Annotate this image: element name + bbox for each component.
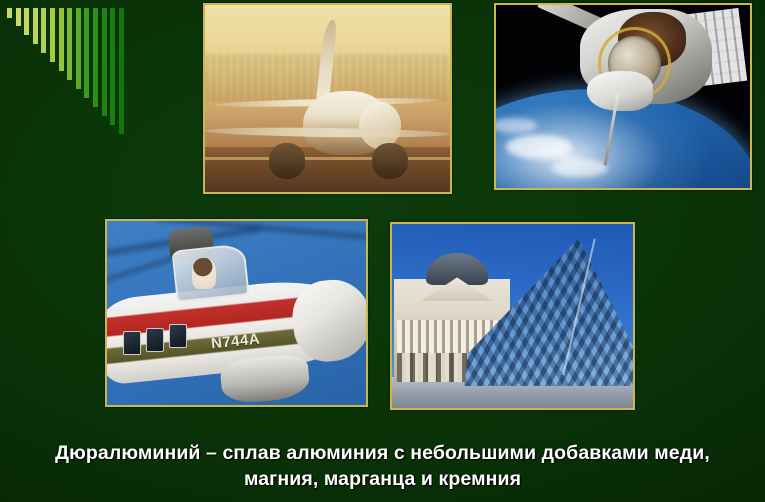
photo-space[interactable] <box>494 3 752 190</box>
cabin-window <box>123 331 141 355</box>
cloud <box>506 135 572 159</box>
cabin-window <box>146 328 164 352</box>
cabin-window <box>169 324 187 348</box>
photo-helicopter-image: N744A <box>107 221 366 405</box>
photo-louvre-image <box>392 224 633 408</box>
spacecraft-antenna-dish <box>587 71 653 111</box>
photo-louvre[interactable] <box>390 222 635 410</box>
photo-space-image <box>496 5 750 188</box>
airplane-engine-left <box>269 143 306 179</box>
caption-line-2: магния, марганца и кремния <box>0 466 765 492</box>
photo-airplane[interactable] <box>203 3 452 194</box>
airplane-nose <box>359 102 401 149</box>
slide-caption: Дюралюминий – сплав алюминия с небольшим… <box>0 440 765 492</box>
runway <box>205 147 450 192</box>
presentation-slide: N744A Дюралюминий – сплав алюминия с неб… <box>0 0 765 502</box>
runway-stripe <box>205 157 450 160</box>
caption-line-1: Дюралюминий – сплав алюминия с небольшим… <box>0 440 765 466</box>
pilot <box>192 258 215 289</box>
airplane-engine-right <box>372 143 409 179</box>
cloud <box>552 159 608 177</box>
photo-helicopter[interactable]: N744A <box>105 219 368 407</box>
photo-airplane-image <box>205 5 450 192</box>
